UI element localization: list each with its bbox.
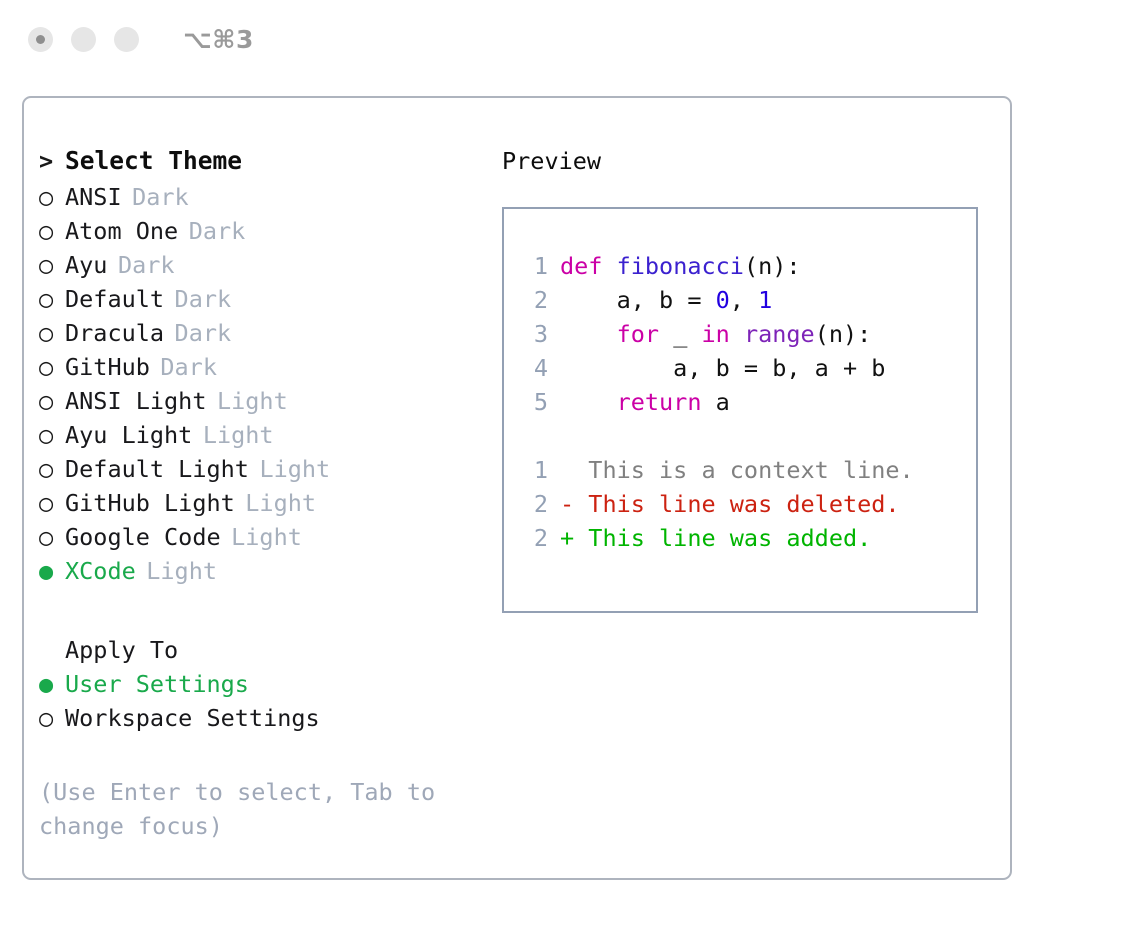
select-theme-heading-label: Select Theme [65,144,242,178]
code-token: (n): [744,252,801,280]
theme-option-name: Default [65,282,164,316]
app-window: ⌥⌘3 >Select Theme ○ANSIDark○Atom OneDark… [0,0,1140,934]
apply-to-heading: ○Apply To [39,633,479,667]
theme-option-name: XCode [65,554,136,588]
radio-unselected-icon: ○ [39,486,65,520]
code-token: def [560,252,602,280]
theme-option-row[interactable]: ○DraculaDark [39,316,479,350]
theme-option-variant: Dark [122,180,189,214]
theme-options-list: ○ANSIDark○Atom OneDark○AyuDark○DefaultDa… [39,180,479,588]
radio-unselected-icon: ○ [39,701,65,735]
theme-option-name: ANSI Light [65,384,206,418]
select-theme-heading: >Select Theme [39,144,479,180]
code-line-content: def fibonacci(n): [560,249,801,283]
theme-option-row[interactable]: ○ANSIDark [39,180,479,214]
diff-line-number: 2 [522,487,548,521]
code-token: a [701,388,729,416]
theme-option-row[interactable]: ●XCodeLight [39,554,479,588]
diff-line-number: 2 [522,521,548,555]
theme-option-variant: Dark [107,248,174,282]
code-line-number: 4 [522,351,548,385]
diff-sample: 1 This is a context line.2- This line wa… [522,453,976,555]
radio-unselected-icon: ○ [39,350,65,384]
theme-option-variant: Light [192,418,273,452]
theme-picker-panel: >Select Theme ○ANSIDark○Atom OneDark○Ayu… [22,96,1012,880]
code-line-content: a, b = 0, 1 [560,283,772,317]
code-token: for [617,320,659,348]
radio-unselected-icon: ○ [39,316,65,350]
code-token: , [730,286,758,314]
radio-selected-icon: ● [39,554,65,588]
radio-unselected-icon: ○ [39,180,65,214]
diff-line: 1 This is a context line. [522,453,976,487]
code-token: a, b = [560,286,716,314]
radio-unselected-icon: ○ [39,418,65,452]
theme-list-column: >Select Theme ○ANSIDark○Atom OneDark○Ayu… [39,144,479,843]
code-token: a, b = b, a + b [560,354,885,382]
apply-to-heading-label: Apply To [65,633,178,667]
diff-line-number: 1 [522,453,548,487]
preview-title: Preview [502,144,992,178]
code-line-content: a, b = b, a + b [560,351,885,385]
window-dot-second-icon[interactable] [71,27,96,52]
theme-option-name: GitHub Light [65,486,235,520]
code-token: range [744,320,815,348]
theme-option-row[interactable]: ○ANSI LightLight [39,384,479,418]
title-bar: ⌥⌘3 [0,0,1140,78]
theme-option-variant: Dark [150,350,217,384]
code-line: 5 return a [522,385,976,419]
radio-selected-icon: ● [39,667,65,701]
code-line-number: 2 [522,283,548,317]
code-token: return [617,388,702,416]
theme-option-row[interactable]: ○DefaultDark [39,282,479,316]
keyboard-shortcut-label: ⌥⌘3 [183,27,254,52]
keyboard-hint-text: (Use Enter to select, Tab to change focu… [39,775,449,843]
code-line-number: 3 [522,317,548,351]
theme-option-row[interactable]: ○Default LightLight [39,452,479,486]
theme-option-row[interactable]: ○Atom OneDark [39,214,479,248]
code-line: 1def fibonacci(n): [522,249,976,283]
theme-option-row[interactable]: ○GitHubDark [39,350,479,384]
radio-unselected-icon: ○ [39,520,65,554]
diff-line-text: This is a context line. [560,453,914,487]
code-line: 4 a, b = b, a + b [522,351,976,385]
hint-spacer [39,735,479,769]
diff-line: 2- This line was deleted. [522,487,976,521]
theme-option-name: Dracula [65,316,164,350]
theme-option-variant: Light [235,486,316,520]
diff-line-text: - This line was deleted. [560,487,900,521]
window-dot-active-inner-icon [36,35,45,44]
code-line: 2 a, b = 0, 1 [522,283,976,317]
radio-unselected-icon: ○ [39,452,65,486]
window-dot-active-icon[interactable] [28,27,53,52]
list-spacer [39,588,479,633]
theme-option-variant: Light [206,384,287,418]
diff-line-text: + This line was added. [560,521,871,555]
theme-option-name: Ayu Light [65,418,192,452]
apply-to-option-row[interactable]: ●User Settings [39,667,479,701]
apply-to-options-list: ●User Settings○Workspace Settings [39,667,479,735]
code-token [602,252,616,280]
theme-option-variant: Dark [178,214,245,248]
code-token: 0 [716,286,730,314]
theme-option-variant: Dark [164,282,231,316]
code-token: in [702,320,730,348]
code-line-number: 5 [522,385,548,419]
code-token: 1 [758,286,772,314]
theme-option-row[interactable]: ○Ayu LightLight [39,418,479,452]
theme-option-row[interactable]: ○Google CodeLight [39,520,479,554]
theme-option-name: ANSI [65,180,122,214]
radio-unselected-icon: ○ [39,282,65,316]
theme-option-variant: Dark [164,316,231,350]
radio-unselected-icon: ○ [39,384,65,418]
code-token [560,388,617,416]
radio-unselected-icon: ○ [39,248,65,282]
apply-to-option-name: User Settings [65,667,249,701]
apply-to-option-name: Workspace Settings [65,701,320,735]
preview-box: 1def fibonacci(n):2 a, b = 0, 13 for _ i… [502,207,978,613]
code-token [730,320,744,348]
window-dot-third-icon[interactable] [114,27,139,52]
diff-line: 2+ This line was added. [522,521,976,555]
code-token: fibonacci [617,252,744,280]
code-line-content: for _ in range(n): [560,317,871,351]
theme-option-name: Ayu [65,248,107,282]
apply-to-option-row[interactable]: ○Workspace Settings [39,701,479,735]
prompt-caret-icon: > [39,144,65,178]
theme-option-name: Atom One [65,214,178,248]
code-line-number: 1 [522,249,548,283]
code-line-content: return a [560,385,730,419]
code-line: 3 for _ in range(n): [522,317,976,351]
theme-option-variant: Light [221,520,302,554]
theme-option-name: Google Code [65,520,221,554]
radio-unselected-icon: ○ [39,214,65,248]
window-controls [28,27,139,52]
theme-option-row[interactable]: ○AyuDark [39,248,479,282]
code-token: _ [659,320,701,348]
theme-option-variant: Light [249,452,330,486]
theme-option-variant: Light [136,554,217,588]
apply-to-heading-indent: ○ [39,633,65,667]
theme-option-name: GitHub [65,350,150,384]
theme-option-name: Default Light [65,452,249,486]
code-sample: 1def fibonacci(n):2 a, b = 0, 13 for _ i… [522,249,976,419]
code-diff-separator [522,419,976,453]
preview-column: Preview 1def fibonacci(n):2 a, b = 0, 13… [502,144,992,613]
theme-option-row[interactable]: ○GitHub LightLight [39,486,479,520]
code-token: (n): [815,320,872,348]
code-token [560,320,617,348]
